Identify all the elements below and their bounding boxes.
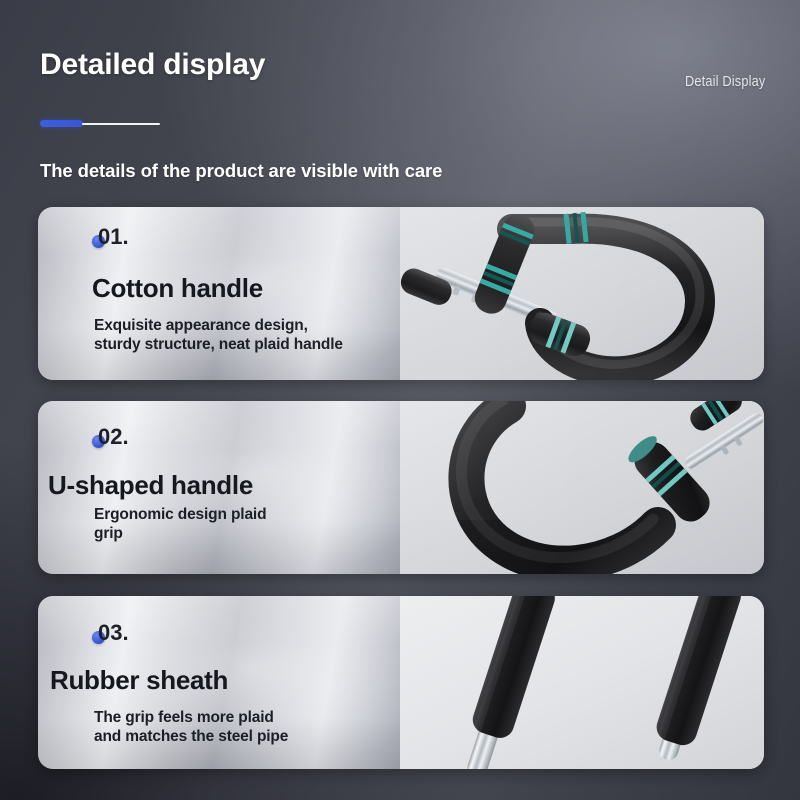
detail-card-1-description: Exquisite appearance design, sturdy stru… [94, 316, 343, 355]
detail-card-2-number: 02. [98, 424, 129, 450]
detail-card-3-title: Rubber sheath [50, 666, 228, 695]
page-title: Detailed display [40, 48, 265, 82]
page-background: Detailed display Detail Display The deta… [0, 0, 800, 800]
detail-card-2-number-row: 02. [98, 424, 129, 450]
detail-card-1-description-line-2: sturdy structure, neat plaid handle [94, 335, 343, 354]
page-header: Detailed display Detail Display The deta… [0, 0, 800, 200]
detail-card-3-photo [400, 596, 764, 769]
detail-card-3-number-row: 03. [98, 620, 129, 646]
detail-card-3-number: 03. [98, 620, 129, 646]
detail-card-1-title: Cotton handle [92, 274, 263, 303]
accent-divider [40, 120, 160, 127]
page-subtitle: The details of the product are visible w… [40, 160, 442, 182]
header-eyebrow-label: Detail Display [685, 74, 765, 90]
detail-card-1-number: 01. [98, 224, 129, 250]
detail-card-2-description-line-2: grip [94, 524, 266, 543]
detail-card-2-description-line-1: Ergonomic design plaid [94, 505, 266, 524]
detail-card-2-photo [400, 401, 764, 574]
detail-card-3-description: The grip feels more plaid and matches th… [94, 708, 288, 747]
detail-card-3-description-line-1: The grip feels more plaid [94, 708, 288, 727]
accent-divider-blue-segment [40, 120, 83, 127]
accent-divider-white-segment [82, 123, 160, 125]
detail-card-1-number-row: 01. [98, 224, 129, 250]
detail-card-2-description: Ergonomic design plaid grip [94, 505, 266, 544]
detail-card-2-title: U-shaped handle [48, 471, 253, 500]
detail-card-1-description-line-1: Exquisite appearance design, [94, 316, 343, 335]
detail-card-3-description-line-2: and matches the steel pipe [94, 727, 288, 746]
detail-card-1-photo [400, 207, 764, 380]
